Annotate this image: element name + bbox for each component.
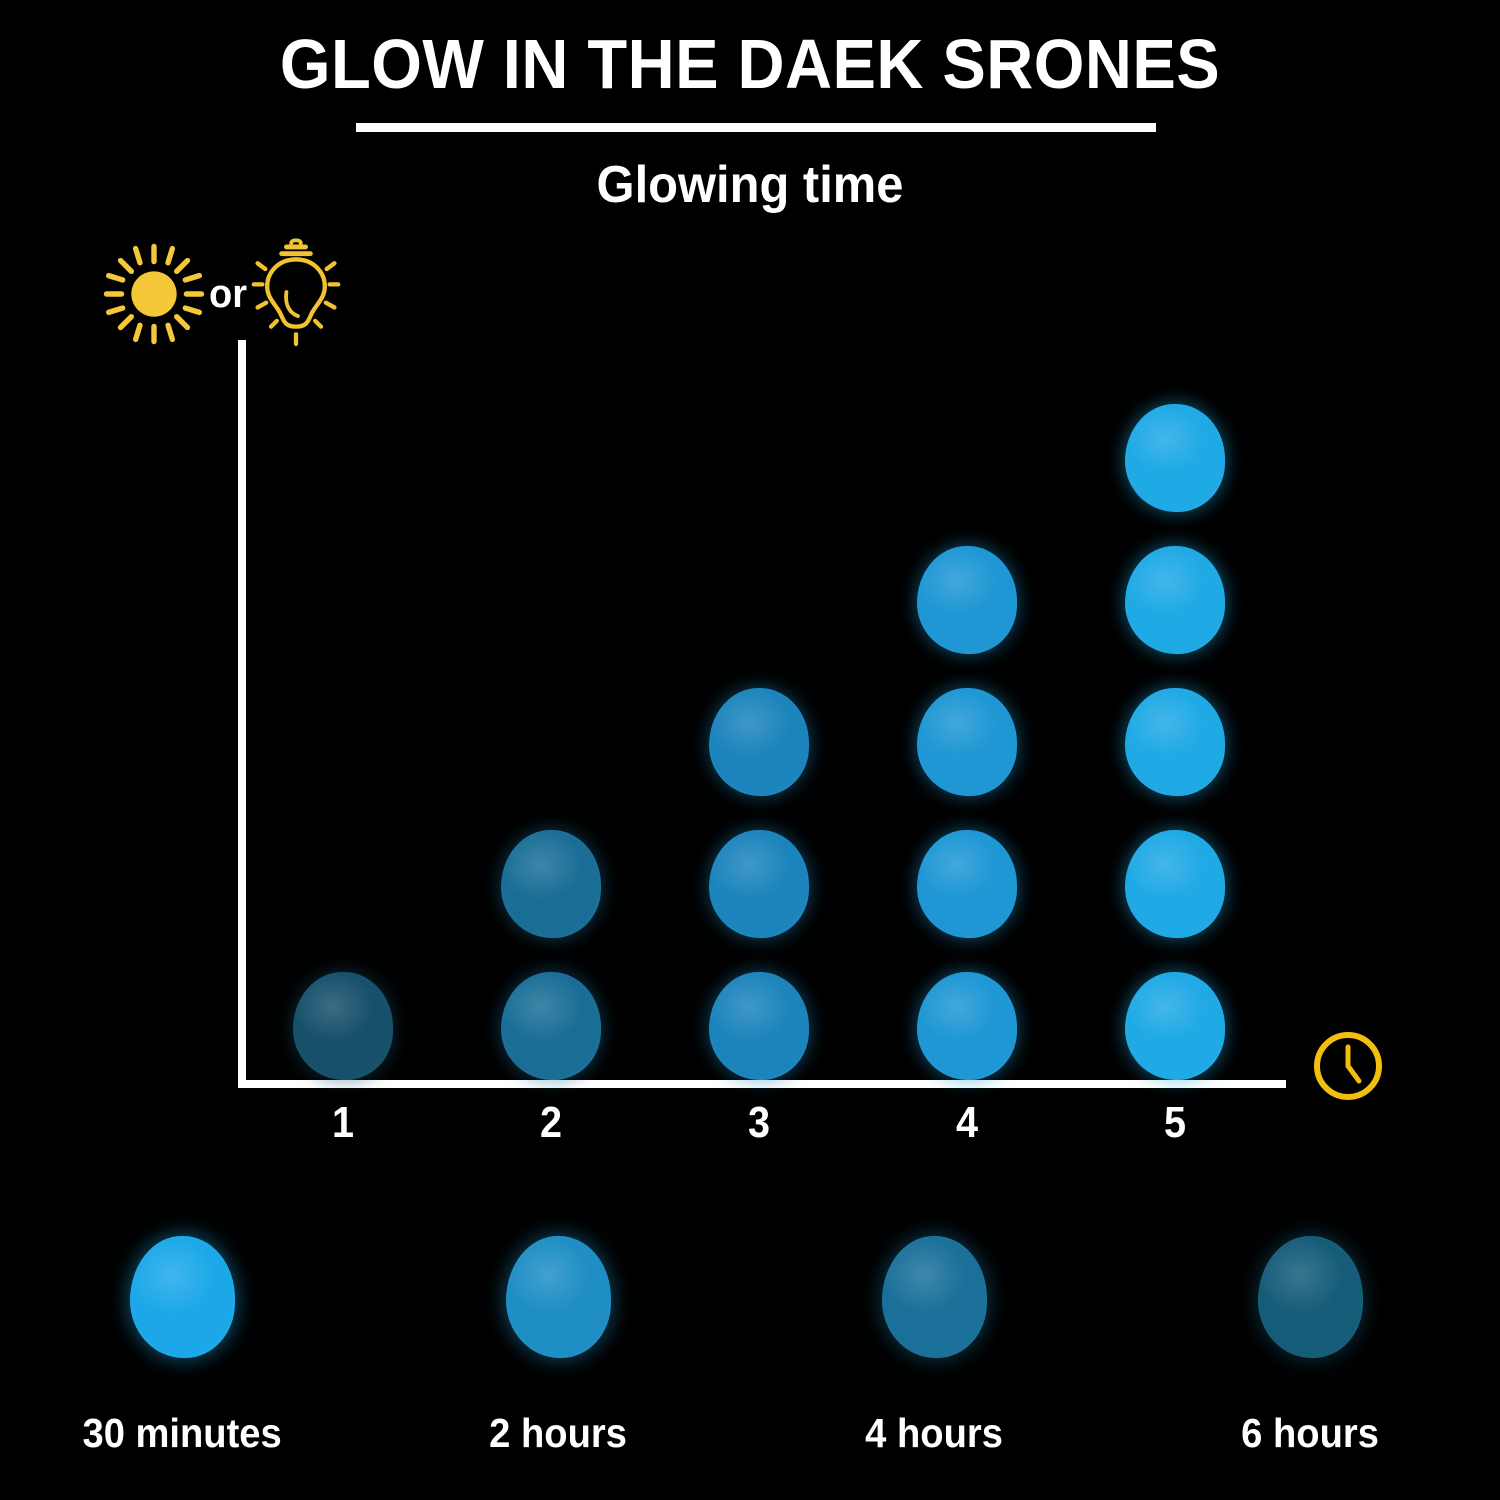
page-subtitle: Glowing time (45, 155, 1455, 215)
legend-item: 4 hours (784, 1236, 1084, 1457)
or-label: or (209, 272, 247, 317)
glow-stone (709, 688, 809, 796)
x-axis-tick-labels: 12345 (246, 1098, 1286, 1158)
stone-column (704, 654, 814, 1080)
glow-stone (917, 688, 1017, 796)
light-bulb-icon (248, 238, 344, 350)
legend-stone-swatch (506, 1236, 611, 1358)
x-axis-tick-label: 2 (502, 1098, 601, 1148)
x-axis-tick-label: 3 (710, 1098, 809, 1148)
stone-column (1120, 370, 1230, 1080)
glow-stone (293, 972, 393, 1080)
page-title: GLOW IN THE DAEK SRONES (53, 28, 1448, 102)
pictogram-plot (246, 352, 1286, 1080)
glow-stone (501, 972, 601, 1080)
y-axis-line (238, 340, 246, 1088)
x-axis-tick-label: 1 (294, 1098, 393, 1148)
legend-label: 6 hours (1241, 1410, 1379, 1457)
legend-stone-swatch (1258, 1236, 1363, 1358)
legend-stone-swatch (130, 1236, 235, 1358)
glow-stone (1125, 830, 1225, 938)
title-divider (356, 123, 1156, 132)
stone-column (288, 938, 398, 1080)
x-axis-tick-label: 5 (1126, 1098, 1225, 1148)
legend-item: 6 hours (1160, 1236, 1460, 1457)
glow-stone (709, 972, 809, 1080)
x-axis-line (238, 1080, 1286, 1088)
stone-column (912, 512, 1022, 1080)
glow-stone (917, 972, 1017, 1080)
charge-source-group: or (100, 238, 390, 350)
glow-stone (917, 546, 1017, 654)
legend-stone-swatch (882, 1236, 987, 1358)
glow-stone (1125, 546, 1225, 654)
infographic-root: GLOW IN THE DAEK SRONES Glowing time (0, 0, 1500, 1500)
glow-stone (917, 830, 1017, 938)
legend-label: 4 hours (865, 1410, 1003, 1457)
stone-column (496, 796, 606, 1080)
glow-stone (709, 830, 809, 938)
brightness-legend: 30 minutes2 hours4 hours6 hours (0, 1236, 1500, 1486)
glow-stone (1125, 972, 1225, 1080)
glow-stone (501, 830, 601, 938)
legend-item: 2 hours (408, 1236, 708, 1457)
glow-stone (1125, 688, 1225, 796)
sun-icon (100, 240, 208, 348)
glow-stone (1125, 404, 1225, 512)
legend-label: 30 minutes (82, 1410, 281, 1457)
clock-icon (1310, 1028, 1386, 1104)
legend-label: 2 hours (489, 1410, 627, 1457)
legend-item: 30 minutes (32, 1236, 332, 1457)
x-axis-tick-label: 4 (918, 1098, 1017, 1148)
